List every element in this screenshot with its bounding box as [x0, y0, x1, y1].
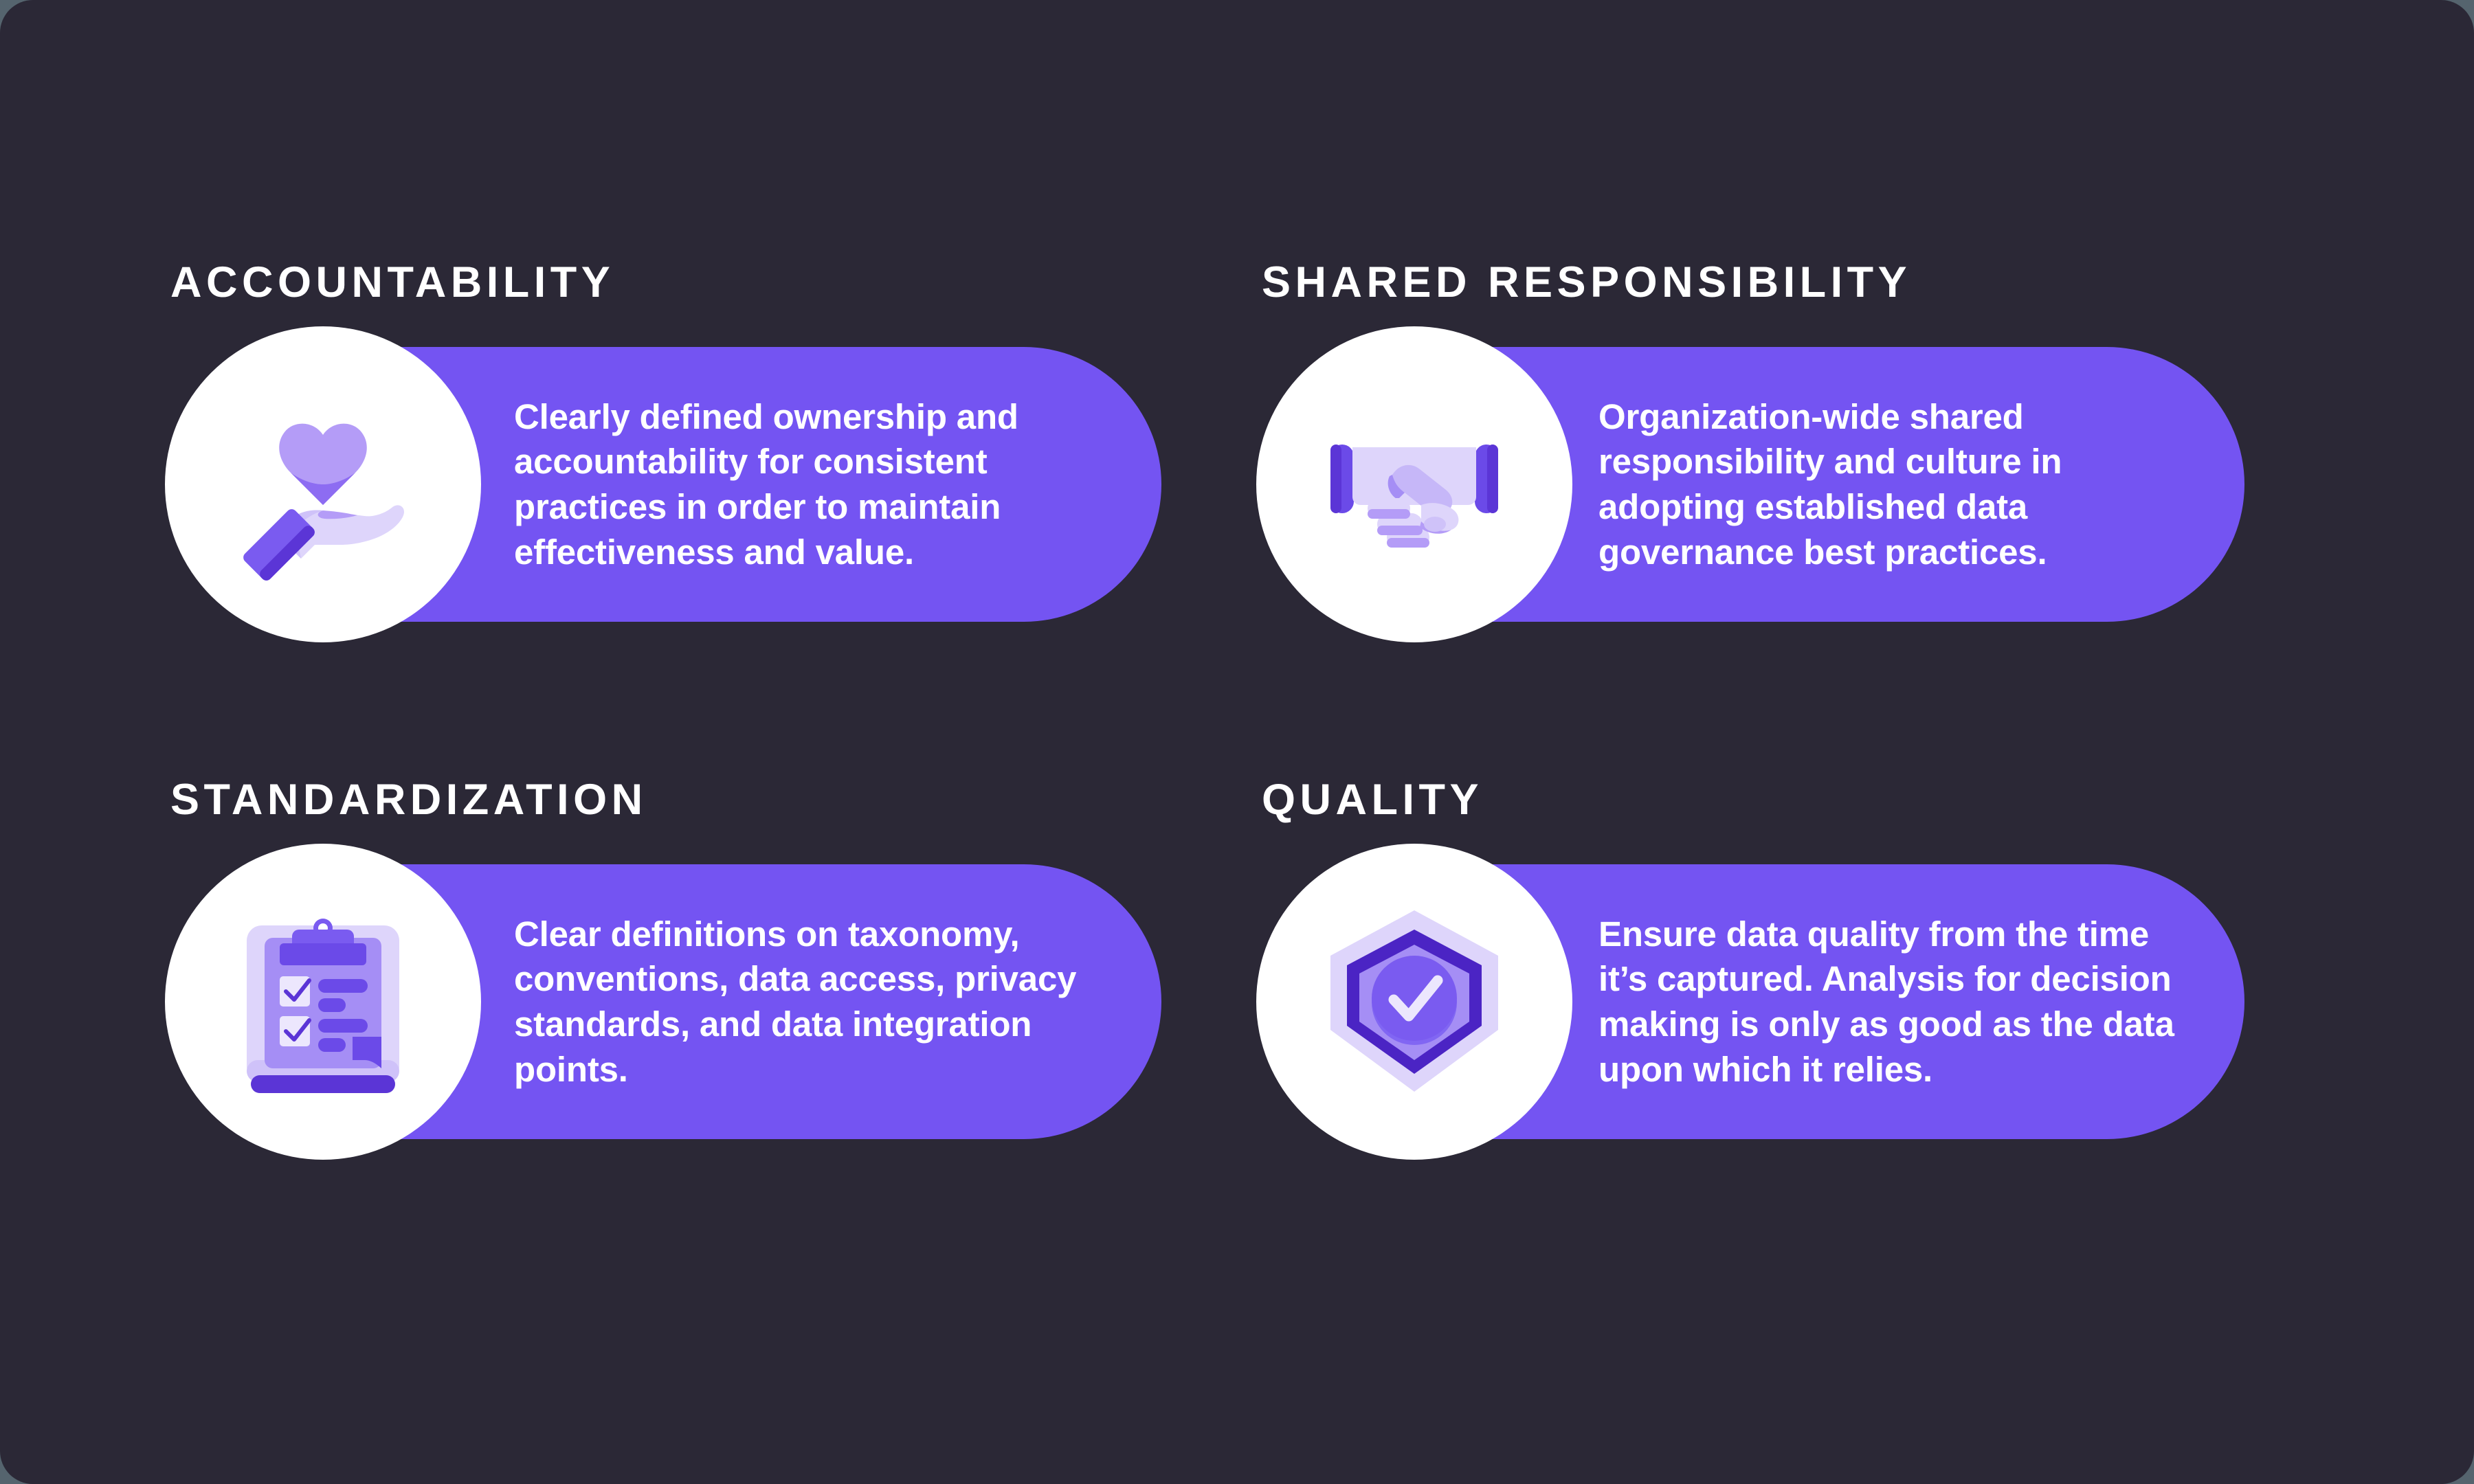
- card-pill[interactable]: Organization-wide shared responsibility …: [1262, 347, 2244, 622]
- card-icon-badge: [165, 326, 481, 642]
- card-title: STANDARDIZATION: [170, 778, 1262, 822]
- card-icon-badge: [1256, 326, 1572, 642]
- card-standardization[interactable]: STANDARDIZATION: [170, 778, 1262, 1139]
- card-pill[interactable]: Clearly defined ownership and accountabi…: [170, 347, 1161, 622]
- card-accountability[interactable]: ACCOUNTABILITY: [170, 261, 1262, 622]
- infographic-panel: ACCOUNTABILITY: [0, 0, 2474, 1484]
- card-pill[interactable]: Ensure data quality from the time it’s c…: [1262, 864, 2244, 1139]
- card-icon-badge: [1256, 844, 1572, 1160]
- clipboard-checklist-icon: [237, 902, 409, 1101]
- card-title: QUALITY: [1262, 778, 2308, 822]
- card-title: SHARED RESPONSIBILITY: [1262, 261, 2308, 304]
- card-description: Ensure data quality from the time it’s c…: [1598, 912, 2196, 1092]
- heart-in-hand-icon: [220, 381, 426, 587]
- card-pill[interactable]: Clear definitions on taxonomy, conventio…: [170, 864, 1161, 1139]
- principles-grid: ACCOUNTABILITY: [170, 261, 2308, 1139]
- card-quality[interactable]: QUALITY: [1262, 778, 2308, 1139]
- card-title: ACCOUNTABILITY: [170, 261, 1262, 304]
- card-description: Clearly defined ownership and accountabi…: [514, 394, 1113, 574]
- card-shared-responsibility[interactable]: SHARED RESPONSIBILITY: [1262, 261, 2308, 622]
- shield-check-icon: [1318, 902, 1511, 1101]
- handshake-icon: [1318, 409, 1511, 560]
- card-description: Organization-wide shared responsibility …: [1598, 394, 2196, 574]
- card-icon-badge: [165, 844, 481, 1160]
- card-description: Clear definitions on taxonomy, conventio…: [514, 912, 1113, 1092]
